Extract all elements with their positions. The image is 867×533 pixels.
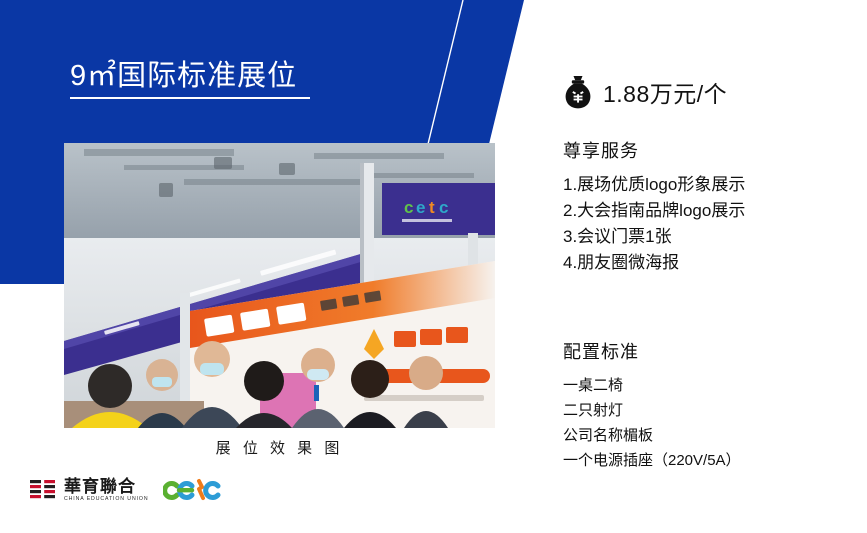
list-item: 2.大会指南品牌logo展示 xyxy=(563,198,863,224)
china-education-union-logo: 華育聯合 CHINA EDUCATION UNION xyxy=(30,478,149,502)
list-item: 一桌二椅 xyxy=(563,373,863,398)
services-heading: 尊享服务 xyxy=(563,137,863,163)
price-amount: 1.88万元/个 xyxy=(603,75,727,109)
svg-text:c: c xyxy=(439,198,448,217)
union-mark-icon xyxy=(30,478,58,502)
slide-canvas: 9㎡国际标准展位 xyxy=(0,0,867,533)
list-item: 二只射灯 xyxy=(563,398,863,423)
services-list: 1.展场优质logo形象展示 2.大会指南品牌logo展示 3.会议门票1张 4… xyxy=(563,172,863,276)
photo-caption: 展 位 效 果 图 xyxy=(64,437,495,458)
list-item: 一个电源插座（220V/5A） xyxy=(563,448,863,473)
configuration-heading: 配置标准 xyxy=(563,338,863,364)
list-item: 4.朋友圈微海报 xyxy=(563,250,863,276)
svg-text:t: t xyxy=(429,198,435,217)
slide-title-block: 9㎡国际标准展位 xyxy=(70,57,310,99)
booth-details-panel: 1.88万元/个 尊享服务 1.展场优质logo形象展示 2.大会指南品牌log… xyxy=(563,70,863,473)
svg-text:e: e xyxy=(416,198,425,217)
money-bag-icon xyxy=(563,75,593,109)
price-row: 1.88万元/个 xyxy=(563,70,863,114)
list-item: 3.会议门票1张 xyxy=(563,224,863,250)
title-underline xyxy=(70,97,310,99)
configuration-list: 一桌二椅 二只射灯 公司名称楣板 一个电源插座（220V/5A） xyxy=(563,373,863,473)
union-wordmark: 華育聯合 CHINA EDUCATION UNION xyxy=(64,478,149,502)
cetc-logo xyxy=(163,478,221,502)
union-name-en: CHINA EDUCATION UNION xyxy=(64,497,149,502)
page-title: 9㎡国际标准展位 xyxy=(70,57,310,95)
exhibition-booth-photo: c e t c xyxy=(64,143,495,428)
union-name-cn: 華育聯合 xyxy=(64,478,149,495)
footer-logo-group: 華育聯合 CHINA EDUCATION UNION xyxy=(30,478,221,502)
configuration-block: 配置标准 一桌二椅 二只射灯 公司名称楣板 一个电源插座（220V/5A） xyxy=(563,338,863,473)
svg-text:c: c xyxy=(404,198,413,217)
list-item: 公司名称楣板 xyxy=(563,423,863,448)
list-item: 1.展场优质logo形象展示 xyxy=(563,172,863,198)
